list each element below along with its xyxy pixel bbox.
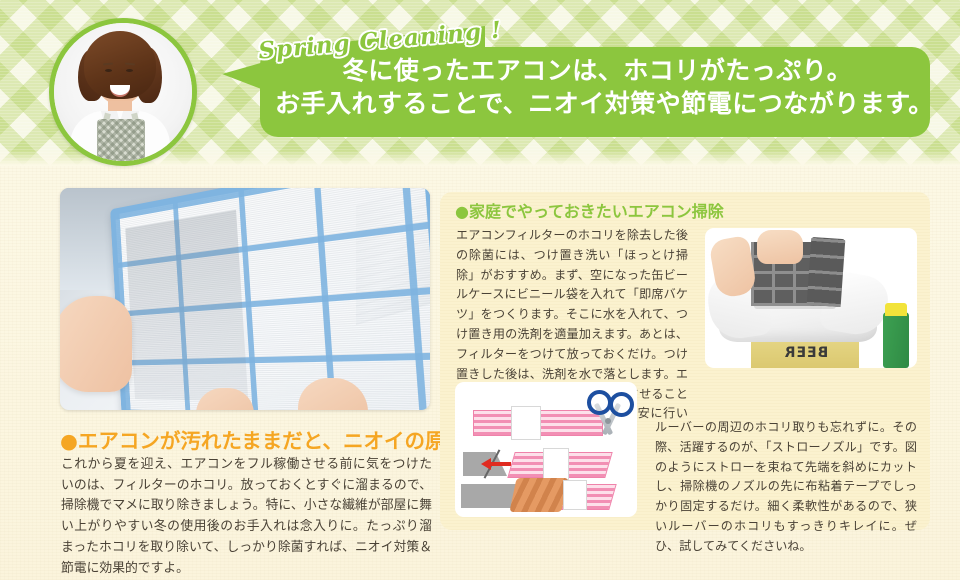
left-section-heading: ●エアコンが汚れたままだと、ニオイの原因にも。 — [60, 424, 450, 454]
straw-tape-2 — [543, 448, 569, 480]
scissors-icon — [583, 388, 631, 438]
illustration-filter-side — [807, 237, 846, 307]
header-message-line-2: お手入れすることで、ニオイ対策や節電につながります。 — [275, 87, 920, 120]
beer-label: BEER — [775, 344, 837, 362]
straw-nozzle-illustration — [455, 382, 637, 517]
cloth-tape-wrap — [509, 478, 568, 512]
scissors-pivot — [605, 418, 611, 424]
bullet-icon: ● — [60, 429, 78, 453]
filter-photo — [60, 188, 430, 410]
straw-tape-1 — [511, 406, 541, 440]
avatar-photo — [54, 23, 192, 161]
photo-filter-mesh — [110, 188, 430, 410]
left-body-text: これから夏を迎え、エアコンをフル稼働させる前に気をつけたいのは、フィルターのホコ… — [61, 455, 432, 579]
scissors-ring-2 — [609, 392, 634, 417]
arrow-icon — [481, 460, 511, 468]
right-body-text-2: ルーバーの周辺のホコリ取りも忘れずに。その際、活躍するのが、「ストローノズル」で… — [655, 418, 917, 557]
photo-hand-left — [60, 296, 132, 392]
right-heading-text: 家庭でやっておきたいエアコン掃除 — [469, 202, 724, 221]
speech-bubble-tail — [222, 62, 264, 90]
header-message: 冬に使ったエアコンは、ホコリがたっぷり。 お手入れすることで、ニオイ対策や節電に… — [275, 54, 920, 120]
avatar-eye-left — [105, 69, 112, 72]
bullet-icon: ● — [455, 202, 469, 221]
avatar — [49, 18, 197, 166]
avatar-apron — [97, 119, 145, 165]
detergent-bottle-cap — [885, 303, 907, 316]
beer-case-bucket-illustration: BEER — [705, 228, 917, 368]
right-section-heading: ●家庭でやっておきたいエアコン掃除 — [455, 198, 925, 222]
straw-tape-3 — [563, 480, 587, 510]
illustration-hand-top — [757, 230, 803, 264]
detergent-bottle — [883, 312, 909, 368]
header-message-line-1: 冬に使ったエアコンは、ホコリがたっぷり。 — [275, 54, 920, 87]
avatar-eye-right — [126, 69, 133, 72]
